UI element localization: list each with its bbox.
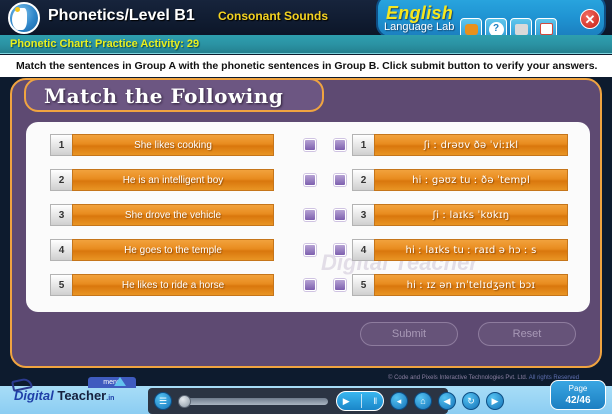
group-a-item-label: He is an intelligent boy: [72, 169, 274, 191]
activity-title-banner: Match the Following: [24, 78, 324, 112]
playlist-icon[interactable]: ☰: [154, 392, 172, 410]
divider: [361, 394, 362, 408]
group-a-item-number: 2: [50, 169, 72, 191]
group-b-item[interactable]: 1 ʃi ː drəʊv ðə ˈviːɪkl: [352, 134, 568, 156]
submit-button[interactable]: Submit: [360, 322, 458, 346]
page-indicator: Page 42/46: [550, 380, 606, 410]
activity-breadcrumb: Phonetic Chart: Practice Activity: 29: [10, 38, 199, 50]
play-icon[interactable]: ▶: [343, 396, 350, 407]
digital-teacher-logo: Digital Teacher.in: [14, 388, 114, 403]
match-rows: 1 She likes cooking 1 ʃi ː drəʊv ðə ˈviː…: [26, 122, 590, 312]
group-b-item-number: 4: [352, 239, 374, 261]
group-b-item-number: 2: [352, 169, 374, 191]
chevron-up-icon[interactable]: [114, 377, 126, 386]
match-row: 4 He goes to the temple 4 hi ː laɪks tu …: [26, 239, 590, 261]
reset-button[interactable]: Reset: [478, 322, 576, 346]
volume-icon[interactable]: ◂: [390, 392, 408, 410]
group-a-item[interactable]: 1 She likes cooking: [50, 134, 274, 156]
pause-icon[interactable]: ‖: [374, 396, 378, 406]
close-icon[interactable]: ✕: [580, 9, 600, 29]
progress-slider-handle[interactable]: [178, 395, 191, 408]
brand-part-2: Teacher: [54, 388, 107, 403]
connector-node-right[interactable]: [334, 209, 346, 221]
match-row: 3 She drove the vehicle 3 ʃi ː laɪks ˈkʊ…: [26, 204, 590, 226]
group-b-item-label: ʃi ː laɪks ˈkʊkɪŋ: [374, 204, 568, 226]
application-root: Phonetics/Level B1 Consonant Sounds Engl…: [0, 0, 612, 414]
activity-stage-panel: Match the Following Digital Teacher 1 Sh…: [10, 78, 602, 368]
media-player-controls: ☰ ▶ ‖ ◂ ⌂ ◀ ↻ ▶: [148, 388, 448, 414]
activity-title: Match the Following: [44, 84, 283, 108]
menu-button[interactable]: menu: [88, 377, 136, 388]
group-b-item-number: 1: [352, 134, 374, 156]
page-label: Page: [551, 384, 605, 394]
group-b-item-label: ʃi ː drəʊv ðə ˈviːɪkl: [374, 134, 568, 156]
connector-node-left[interactable]: [304, 244, 316, 256]
group-a-item[interactable]: 4 He goes to the temple: [50, 239, 274, 261]
copyright-text: © Code and Pixels Interactive Technologi…: [388, 375, 579, 381]
connector-node-left[interactable]: [304, 279, 316, 291]
connector-node-right[interactable]: [334, 279, 346, 291]
match-row: 1 She likes cooking 1 ʃi ː drəʊv ðə ˈviː…: [26, 134, 590, 156]
next-icon[interactable]: ▶: [486, 392, 504, 410]
group-a-item[interactable]: 5 He likes to ride a horse: [50, 274, 274, 296]
group-b-item[interactable]: 3 ʃi ː laɪks ˈkʊkɪŋ: [352, 204, 568, 226]
group-b-item-label: hi ː ɪz ən ɪnˈtelɪdʒənt bɔɪ: [374, 274, 568, 296]
play-pause-group[interactable]: ▶ ‖: [336, 391, 384, 411]
group-a-item[interactable]: 3 She drove the vehicle: [50, 204, 274, 226]
lesson-subtitle: Consonant Sounds: [218, 9, 328, 23]
home-icon[interactable]: ⌂: [414, 392, 432, 410]
group-a-item-label: He goes to the temple: [72, 239, 274, 261]
match-row: 5 He likes to ride a horse 5 hi ː ɪz ən …: [26, 274, 590, 296]
refresh-icon[interactable]: ↻: [462, 392, 480, 410]
group-b-item[interactable]: 5 hi ː ɪz ən ɪnˈtelɪdʒənt bɔɪ: [352, 274, 568, 296]
group-b-item[interactable]: 2 hi ː gəʊz tu ː ðə ˈtempl: [352, 169, 568, 191]
head-profile-logo-icon: [8, 2, 40, 34]
top-header-bar: Phonetics/Level B1 Consonant Sounds Engl…: [0, 0, 612, 35]
match-row: 2 He is an intelligent boy 2 hi ː gəʊz t…: [26, 169, 590, 191]
connector-node-left[interactable]: [304, 209, 316, 221]
brand-title-line2: Language Lab: [384, 21, 454, 33]
match-content-panel: Digital Teacher 1 She likes cooking 1 ʃi…: [26, 122, 590, 312]
group-b-item-number: 5: [352, 274, 374, 296]
progress-slider-track[interactable]: [180, 398, 328, 405]
action-button-group: Submit Reset: [352, 322, 582, 348]
group-b-item[interactable]: 4 hi ː laɪks tu ː raɪd ə hɔ ː s: [352, 239, 568, 261]
group-a-item-label: She likes cooking: [72, 134, 274, 156]
connector-node-left[interactable]: [304, 174, 316, 186]
activity-subheader-bar: Phonetic Chart: Practice Activity: 29: [0, 35, 612, 54]
group-a-item-number: 5: [50, 274, 72, 296]
connector-node-left[interactable]: [304, 139, 316, 151]
group-a-item-number: 3: [50, 204, 72, 226]
group-a-item-label: He likes to ride a horse: [72, 274, 274, 296]
brand-part-3: .in: [106, 395, 114, 402]
group-a-item-number: 1: [50, 134, 72, 156]
page-value: 42/46: [551, 394, 605, 407]
group-b-item-label: hi ː gəʊz tu ː ðə ˈtempl: [374, 169, 568, 191]
group-b-item-label: hi ː laɪks tu ː raɪd ə hɔ ː s: [374, 239, 568, 261]
connector-node-right[interactable]: [334, 244, 346, 256]
instruction-text: Match the sentences in Group A with the …: [0, 55, 612, 77]
group-a-item-label: She drove the vehicle: [72, 204, 274, 226]
connector-node-right[interactable]: [334, 174, 346, 186]
connector-node-right[interactable]: [334, 139, 346, 151]
english-language-lab-panel: English Language Lab ?: [376, 0, 606, 38]
group-a-item-number: 4: [50, 239, 72, 261]
brand-part-1: Digital: [14, 388, 54, 403]
copyright-main: © Code and Pixels Interactive Technologi…: [388, 375, 527, 381]
page-title: Phonetics/Level B1: [48, 7, 195, 25]
group-b-item-number: 3: [352, 204, 374, 226]
group-a-item[interactable]: 2 He is an intelligent boy: [50, 169, 274, 191]
previous-icon[interactable]: ◀: [438, 392, 456, 410]
